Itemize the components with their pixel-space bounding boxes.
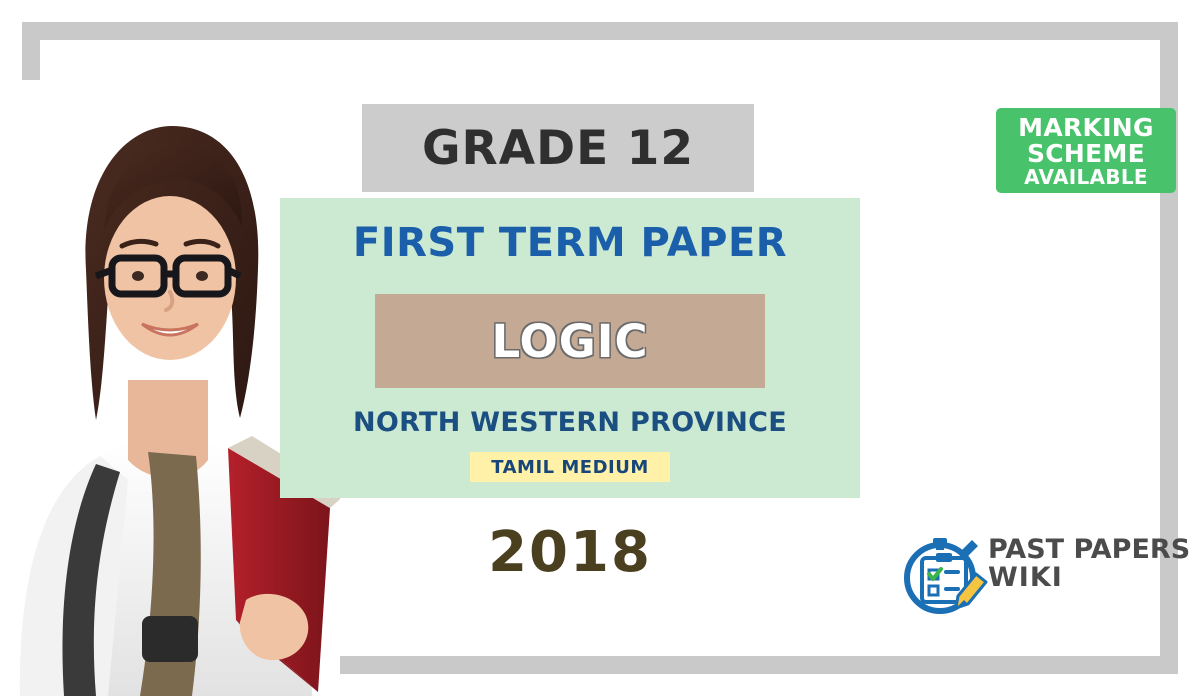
exam-title: FIRST TERM PAPER	[280, 220, 860, 266]
logo-line1: PAST PAPERS	[988, 536, 1168, 564]
grade-label: GRADE 12	[422, 121, 694, 176]
logo-wordmark: PAST PAPERS WIKI	[988, 536, 1168, 593]
exam-details-panel: FIRST TERM PAPER LOGIC NORTH WESTERN PRO…	[280, 198, 860, 498]
subject-banner: LOGIC	[375, 294, 765, 388]
marking-scheme-badge: MARKING SCHEME AVAILABLE	[996, 108, 1176, 193]
province-label: NORTH WESTERN PROVINCE	[280, 407, 860, 438]
year-label: 2018	[380, 520, 760, 585]
subject-label: LOGIC	[491, 315, 648, 368]
medium-badge: TAMIL MEDIUM	[470, 452, 670, 482]
medium-label: TAMIL MEDIUM	[491, 457, 649, 478]
clipboard-checklist-stopwatch-pencil-icon	[900, 534, 988, 618]
logo-line2: WIKI	[988, 564, 1168, 592]
grade-banner: GRADE 12	[362, 104, 754, 192]
marking-badge-line1: MARKING	[1018, 115, 1154, 141]
site-logo: PAST PAPERS WIKI	[900, 534, 1168, 618]
marking-badge-line2: SCHEME	[1027, 141, 1145, 167]
marking-badge-line3: AVAILABLE	[1024, 166, 1148, 188]
poster-canvas: GRADE 12 FIRST TERM PAPER LOGIC NORTH WE…	[0, 0, 1200, 696]
